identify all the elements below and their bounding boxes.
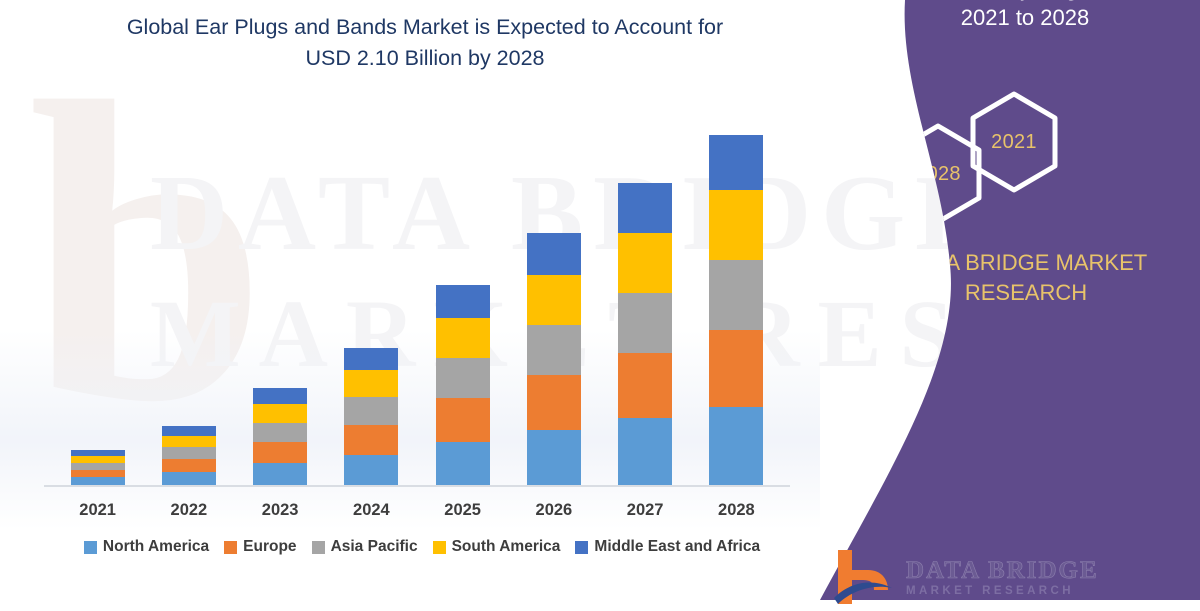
legend-color-swatch: [433, 541, 446, 554]
stacked-bar[interactable]: [71, 408, 125, 485]
bar-segment[interactable]: [344, 370, 398, 397]
brand-panel-heading: Market, By Regions, 2021 to 2028: [780, 0, 1200, 33]
stacked-bar[interactable]: [253, 358, 307, 485]
stacked-bar[interactable]: [618, 183, 672, 485]
bar-segment[interactable]: [618, 293, 672, 353]
bar-segment[interactable]: [436, 285, 490, 318]
legend-item[interactable]: South America: [433, 538, 561, 556]
stacked-bar[interactable]: [709, 135, 763, 485]
bar-group: [511, 233, 597, 485]
data-bridge-logo-icon: [832, 548, 894, 606]
bar-segment[interactable]: [162, 436, 216, 448]
legend-label: North America: [103, 538, 209, 556]
stacked-bar[interactable]: [344, 334, 398, 485]
footer-logo-text: DATA BRIDGE MARKET RESEARCH: [906, 548, 1099, 598]
stacked-bar-chart: 20212022202320242025202620272028: [0, 0, 800, 600]
bar-segment[interactable]: [71, 470, 125, 478]
bar-segment[interactable]: [527, 233, 581, 275]
bar-segment[interactable]: [709, 330, 763, 407]
bar-segment[interactable]: [344, 425, 398, 455]
bar-segment[interactable]: [527, 430, 581, 485]
bar-group: [146, 386, 232, 485]
bar-segment[interactable]: [709, 407, 763, 485]
x-axis-tick-label: 2021: [55, 501, 141, 520]
hexagon-badges: 2028 2021: [780, 96, 1200, 206]
brand-name: DATA BRIDGE MARKET RESEARCH: [780, 248, 1200, 307]
x-axis-tick-labels: 20212022202320242025202620272028: [52, 494, 782, 526]
bar-group: [55, 408, 141, 485]
legend-label: Middle East and Africa: [594, 538, 760, 556]
bar-segment[interactable]: [162, 447, 216, 459]
stacked-bar[interactable]: [162, 386, 216, 485]
bar-segment[interactable]: [71, 456, 125, 463]
brand-name-line-2: RESEARCH: [868, 278, 1184, 308]
bar-segment[interactable]: [253, 463, 307, 485]
bar-segment[interactable]: [618, 353, 672, 418]
bar-group: [602, 183, 688, 485]
hexagon-badge-start-year: 2021: [968, 90, 1060, 194]
legend-item[interactable]: Middle East and Africa: [575, 538, 760, 556]
bar-segment[interactable]: [344, 455, 398, 485]
bar-group: [693, 135, 779, 485]
legend-item[interactable]: Europe: [224, 538, 296, 556]
x-axis-tick-label: 2028: [693, 501, 779, 520]
bar-segment[interactable]: [344, 348, 398, 371]
footer-logo-title: DATA BRIDGE: [906, 558, 1099, 583]
x-axis-tick-label: 2024: [328, 501, 414, 520]
legend-color-swatch: [575, 541, 588, 554]
x-axis-line: [44, 485, 790, 487]
bar-segment[interactable]: [527, 275, 581, 325]
bar-segment[interactable]: [709, 190, 763, 260]
bar-segment[interactable]: [436, 318, 490, 358]
bar-segment[interactable]: [618, 418, 672, 485]
bar-segment[interactable]: [71, 477, 125, 485]
bar-group: [237, 358, 323, 485]
x-axis-tick-label: 2023: [237, 501, 323, 520]
brand-heading-line-2: 2021 to 2028: [872, 3, 1178, 32]
brand-name-line-1: DATA BRIDGE MARKET: [868, 248, 1184, 278]
bar-segment[interactable]: [162, 459, 216, 472]
legend-item[interactable]: Asia Pacific: [312, 538, 418, 556]
hexagon-end-year-label: 2028: [915, 163, 961, 186]
bar-segment[interactable]: [709, 135, 763, 190]
bar-group: [328, 334, 414, 485]
legend-label: Europe: [243, 538, 296, 556]
legend-label: South America: [452, 538, 561, 556]
stacked-bar[interactable]: [436, 285, 490, 485]
stacked-bar[interactable]: [527, 233, 581, 485]
chart-legend: North AmericaEuropeAsia PacificSouth Ame…: [42, 538, 802, 556]
brand-panel: Market, By Regions, 2021 to 2028 2028 20…: [780, 0, 1200, 600]
x-axis-tick-label: 2025: [420, 501, 506, 520]
bar-segment[interactable]: [436, 358, 490, 398]
bar-segment[interactable]: [162, 472, 216, 485]
legend-item[interactable]: North America: [84, 538, 209, 556]
legend-color-swatch: [312, 541, 325, 554]
legend-color-swatch: [224, 541, 237, 554]
bar-segment[interactable]: [162, 426, 216, 436]
bar-segment[interactable]: [527, 375, 581, 430]
bar-segment[interactable]: [253, 423, 307, 442]
bar-segment[interactable]: [253, 404, 307, 423]
x-axis-tick-label: 2026: [511, 501, 597, 520]
bar-segment[interactable]: [527, 325, 581, 375]
bar-segment[interactable]: [618, 233, 672, 293]
hexagon-start-year-label: 2021: [991, 131, 1037, 154]
x-axis-tick-label: 2027: [602, 501, 688, 520]
footer-logo-subtitle: MARKET RESEARCH: [906, 586, 1099, 598]
legend-color-swatch: [84, 541, 97, 554]
bar-segment[interactable]: [71, 463, 125, 470]
bar-segment[interactable]: [253, 442, 307, 464]
legend-label: Asia Pacific: [331, 538, 418, 556]
chart-plot-area: [52, 100, 782, 485]
bar-segment[interactable]: [344, 397, 398, 424]
bar-group: [420, 285, 506, 485]
x-axis-tick-label: 2022: [146, 501, 232, 520]
bar-segment[interactable]: [709, 260, 763, 330]
bar-segment[interactable]: [436, 442, 490, 485]
bar-segment[interactable]: [618, 183, 672, 233]
footer-logo: DATA BRIDGE MARKET RESEARCH: [832, 548, 1162, 608]
bar-segment[interactable]: [253, 388, 307, 403]
bar-segment[interactable]: [436, 398, 490, 441]
